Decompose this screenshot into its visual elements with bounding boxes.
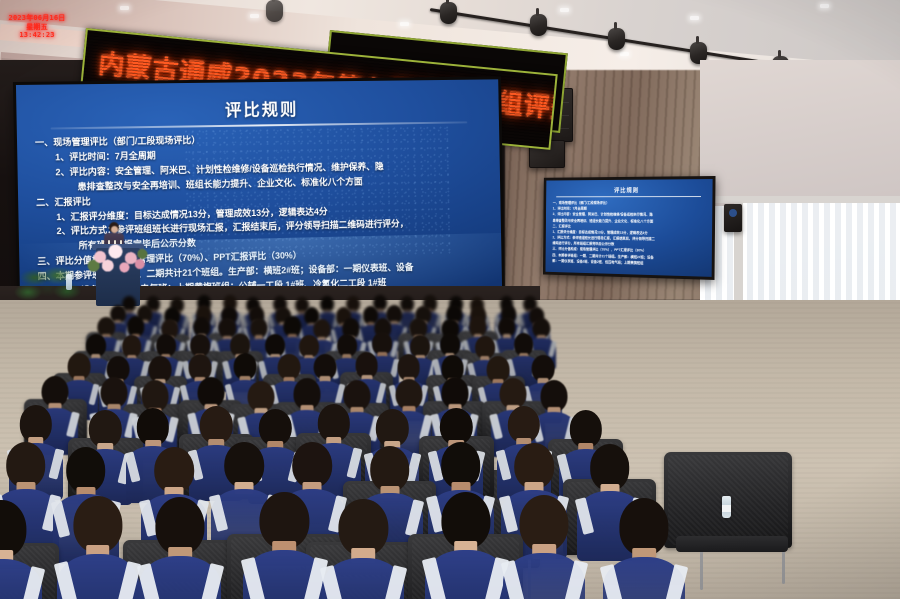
audience-member xyxy=(243,492,325,599)
recessed-light xyxy=(250,14,259,18)
recessed-light xyxy=(620,52,629,56)
audience-member xyxy=(603,498,685,599)
recessed-light xyxy=(690,16,699,20)
side-monitor-divider xyxy=(556,196,701,197)
audience-member xyxy=(57,496,139,599)
water-bottle xyxy=(66,274,72,290)
wall-mounted-speaker xyxy=(724,204,742,232)
presenter-face xyxy=(111,226,118,233)
camera-timestamp: 2023年06月16日 星期五 13:42:23 xyxy=(8,14,66,52)
stage-spotlight xyxy=(440,2,457,24)
flower-arrangement xyxy=(86,238,150,280)
audience-member xyxy=(503,495,585,599)
stage-spotlight xyxy=(608,28,625,50)
slide-title: 评比规则 xyxy=(32,93,484,124)
recessed-light xyxy=(560,8,569,12)
audience-member xyxy=(0,500,42,599)
side-monitor-body: 一、现场管理评比（部门/工段现场评比）1、评比时间：7月全周期2、评比内容：安全… xyxy=(546,200,713,268)
recessed-light xyxy=(400,22,409,26)
audience-member xyxy=(425,492,507,599)
timestamp-time: 13:42:23 xyxy=(8,31,66,40)
recessed-light xyxy=(820,4,829,8)
stage-spotlight xyxy=(530,14,547,36)
audience-member xyxy=(139,497,221,599)
audience-member xyxy=(322,499,404,599)
potted-plant xyxy=(14,262,84,314)
window-mullion xyxy=(700,196,900,203)
conference-hall-photo: 内蒙古通威2023年第七期红旗班组评选会 评比规则 一、现场管理评比（部门/工段… xyxy=(0,0,900,599)
stage-spotlight xyxy=(266,0,283,22)
side-monitor: 评比规则 一、现场管理评比（部门/工段现场评比）1、评比时间：7月全周期2、评比… xyxy=(543,176,716,280)
water-bottle xyxy=(722,496,731,518)
timestamp-weekday: 星期五 xyxy=(8,23,66,32)
recessed-light xyxy=(120,6,129,10)
timestamp-date: 2023年06月16日 xyxy=(8,14,66,23)
side-monitor-title: 评比规则 xyxy=(546,185,712,194)
chair-seat xyxy=(676,536,788,552)
